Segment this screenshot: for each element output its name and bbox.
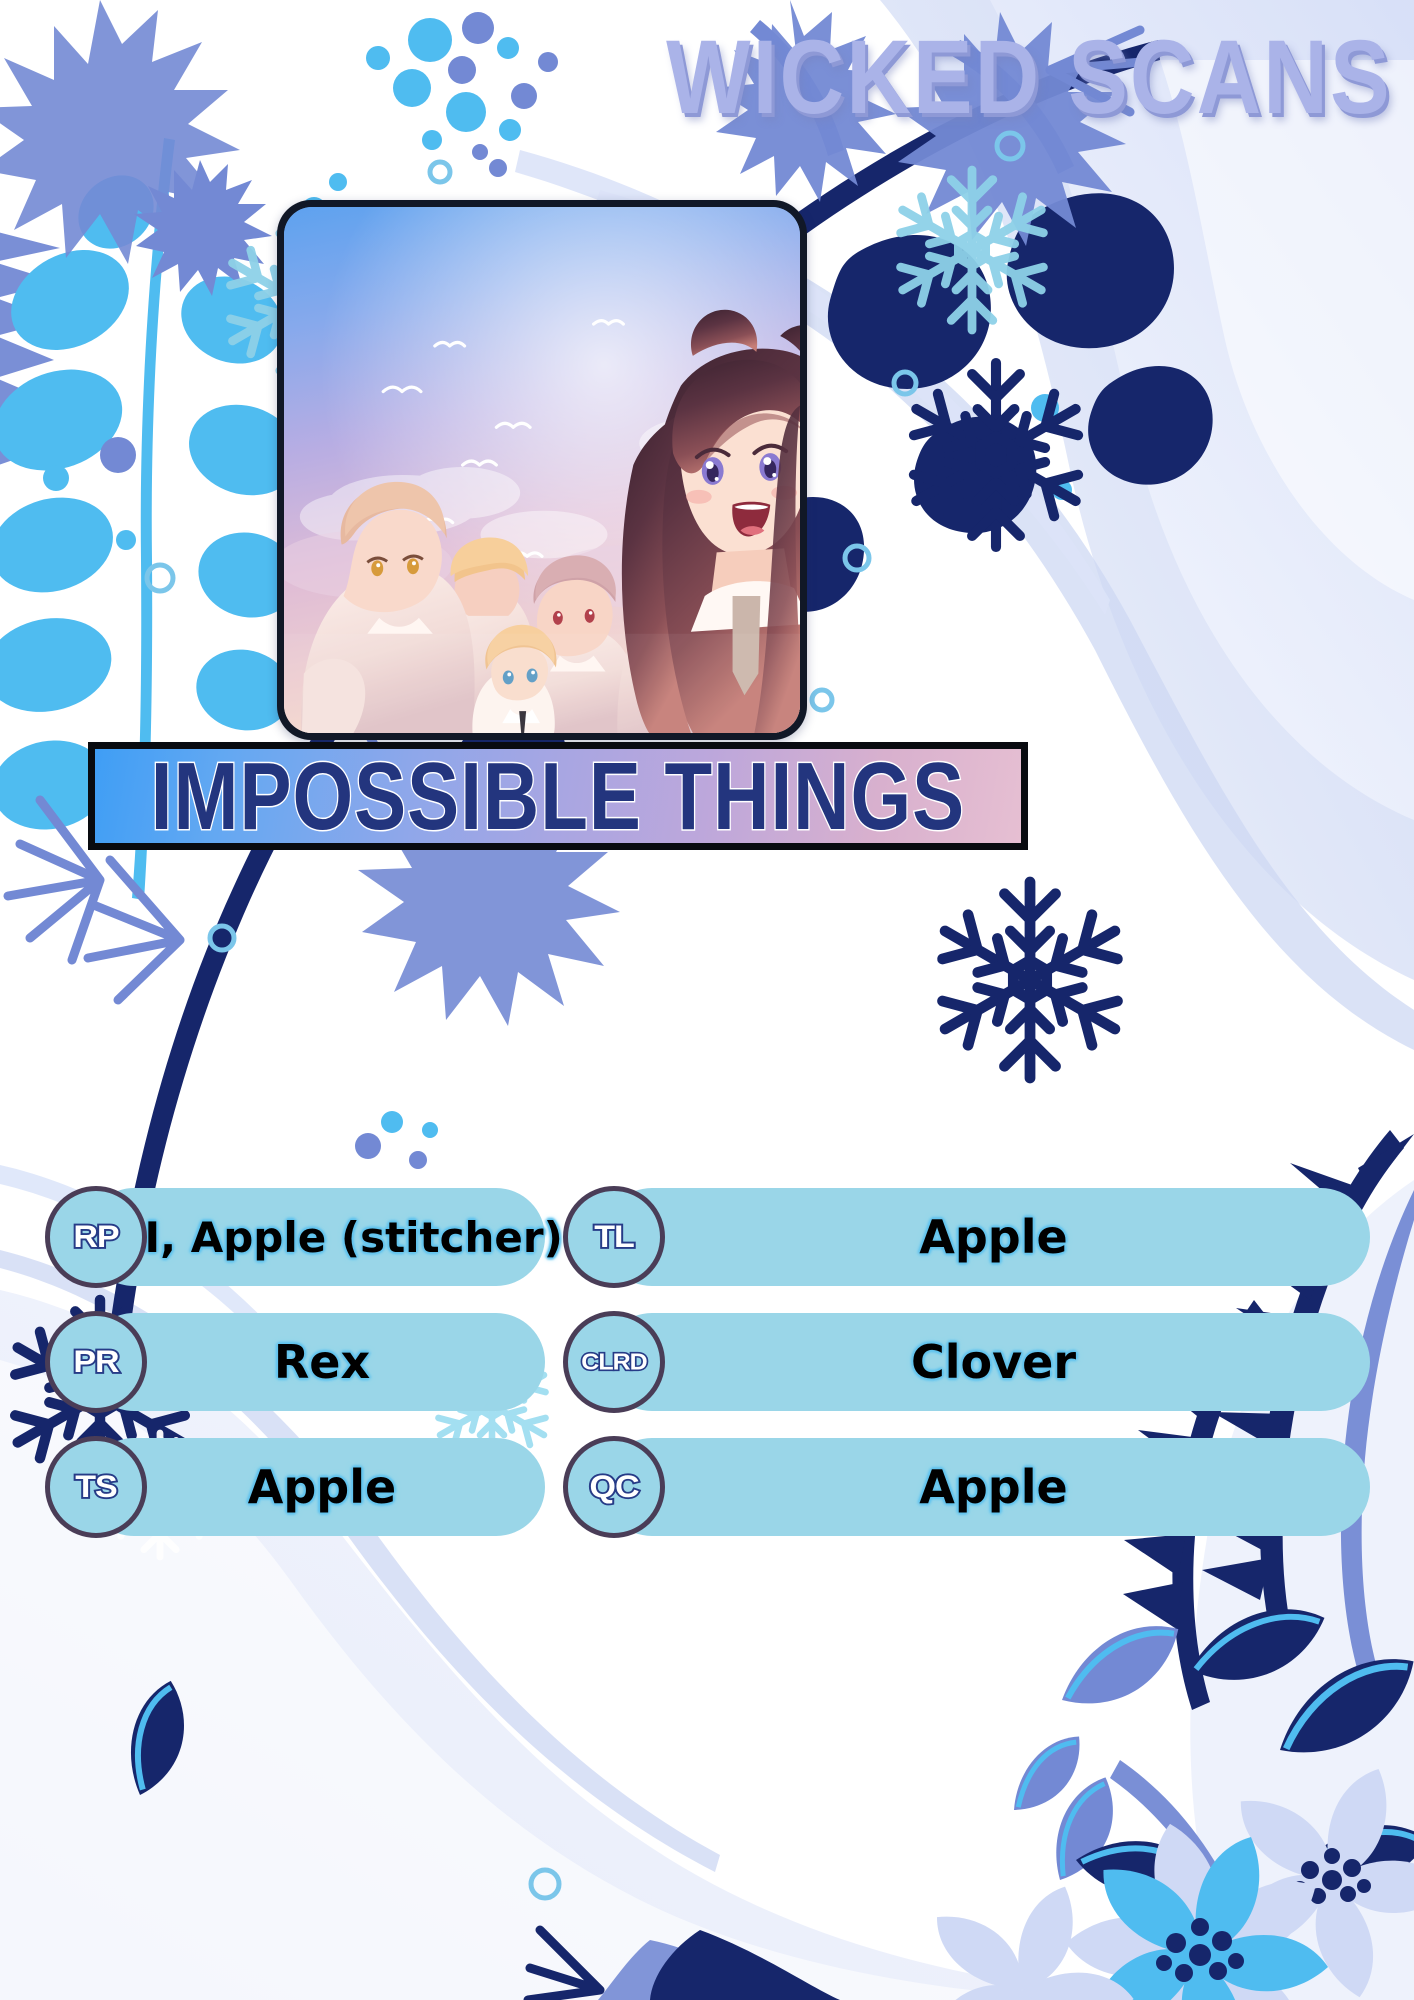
credit-entry-rp[interactable]: CAI, Apple (stitcher) RP [45, 1188, 545, 1286]
role-badge-tl: TL [563, 1186, 665, 1288]
credit-entry-tl[interactable]: Apple TL [563, 1188, 1350, 1286]
credit-entry-ts[interactable]: Apple TS [45, 1438, 545, 1536]
credit-row: CAI, Apple (stitcher) RP Apple TL [0, 1188, 1414, 1313]
credit-pill: Apple [603, 1188, 1370, 1286]
snowflake-top-right [914, 363, 1078, 547]
credit-name: Clover [897, 1335, 1076, 1389]
title-banner: IMPOSSIBLE THINGS [88, 742, 1028, 850]
series-title: IMPOSSIBLE THINGS [151, 742, 965, 850]
role-badge-qc: QC [563, 1436, 665, 1538]
credit-pill: Rex [85, 1313, 545, 1411]
credit-name: Apple [234, 1460, 396, 1514]
role-label: RP [73, 1219, 118, 1255]
role-label: TL [594, 1219, 634, 1255]
credit-row: Apple TS Apple QC [0, 1438, 1414, 1563]
role-badge-pr: PR [45, 1311, 147, 1413]
role-badge-clrd: CLRD [563, 1311, 665, 1413]
credit-pill: Clover [603, 1313, 1370, 1411]
credit-pill: Apple [603, 1438, 1370, 1536]
credit-name: Rex [260, 1335, 370, 1389]
credits-page: WICKED SCANS [0, 0, 1414, 2000]
credit-row: Rex PR Clover CLRD [0, 1313, 1414, 1438]
credit-entry-qc[interactable]: Apple QC [563, 1438, 1350, 1536]
role-label: CLRD [581, 1349, 646, 1376]
watermark-wicked-scans: WICKED SCANS [666, 18, 1392, 139]
credit-name: Apple [905, 1460, 1067, 1514]
credits-list: CAI, Apple (stitcher) RP Apple TL Rex [0, 1188, 1414, 1563]
credit-name: Apple [905, 1210, 1067, 1264]
role-label: PR [73, 1344, 118, 1380]
role-label: QC [590, 1469, 639, 1505]
credit-pill: Apple [85, 1438, 545, 1536]
cover-art-image [284, 207, 800, 733]
credit-pill: CAI, Apple (stitcher) [85, 1188, 545, 1286]
role-badge-rp: RP [45, 1186, 147, 1288]
role-label: TS [75, 1469, 116, 1505]
cover-art-frame [277, 200, 807, 740]
credit-entry-pr[interactable]: Rex PR [45, 1313, 545, 1411]
role-badge-ts: TS [45, 1436, 147, 1538]
credit-entry-clrd[interactable]: Clover CLRD [563, 1313, 1350, 1411]
